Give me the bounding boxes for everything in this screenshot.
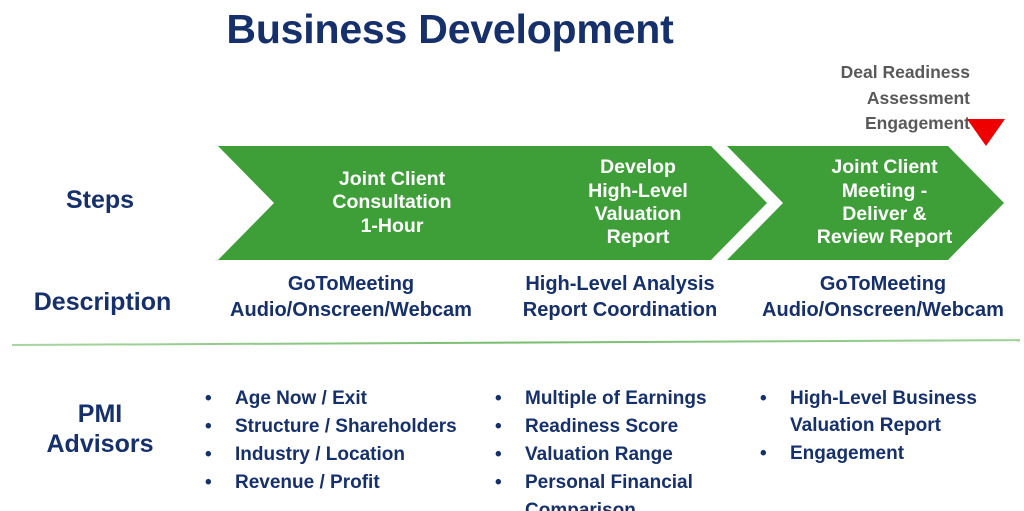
process-step-1[interactable]: Joint Client Consultation 1-Hour — [218, 146, 528, 260]
slide-canvas: Business Development Deal Readiness Asse… — [0, 0, 1024, 511]
list-item-label: Readiness Score — [525, 413, 745, 440]
red-down-triangle-icon — [967, 119, 1005, 146]
description-cell-2: High-Level Analysis Report Coordination — [495, 272, 745, 323]
list-item-label: Age Now / Exit — [235, 385, 495, 412]
process-step-3[interactable]: Joint Client Meeting - Deliver & Review … — [727, 146, 1004, 260]
list-item-label: Personal Financial Comparison — [525, 469, 745, 511]
pmi-bullet-column-2: • Multiple of Earnings • Readiness Score… — [495, 385, 745, 511]
list-item-label: Industry / Location — [235, 441, 495, 468]
bullet-dot-icon: • — [760, 440, 790, 467]
description-cell-3: GoToMeeting Audio/Onscreen/Webcam — [742, 272, 1024, 323]
list-item-label: Valuation Range — [525, 441, 745, 468]
list-item: • Readiness Score — [495, 413, 745, 440]
callout-line-3: Engagement — [780, 111, 970, 137]
deal-readiness-callout: Deal Readiness Assessment Engagement — [780, 60, 970, 137]
bullet-dot-icon: • — [760, 385, 790, 412]
pmi-bullet-column-3: • High-Level Business Valuation Report •… — [760, 385, 1020, 468]
list-item-label: Revenue / Profit — [235, 469, 495, 496]
list-item: • Industry / Location — [205, 441, 495, 468]
section-divider — [12, 339, 1020, 346]
bullet-dot-icon: • — [205, 413, 235, 440]
process-chevron-band: Joint Client Consultation 1-Hour Develop… — [0, 146, 1024, 260]
bullet-dot-icon: • — [205, 385, 235, 412]
description-cell-1: GoToMeeting Audio/Onscreen/Webcam — [208, 272, 494, 323]
list-item: • Structure / Shareholders — [205, 413, 495, 440]
page-title: Business Development — [0, 6, 900, 53]
row-label-description: Description — [0, 288, 205, 318]
bullet-dot-icon: • — [205, 441, 235, 468]
bullet-dot-icon: • — [495, 413, 525, 440]
process-step-1-label: Joint Client Consultation 1-Hour — [286, 168, 459, 238]
process-step-3-label: Joint Client Meeting - Deliver & Review … — [771, 156, 960, 250]
process-step-2-label: Develop High-Level Valuation Report — [542, 156, 696, 250]
list-item: • Valuation Range — [495, 441, 745, 468]
list-item: • High-Level Business Valuation Report — [760, 385, 1020, 439]
list-item-label: Multiple of Earnings — [525, 385, 745, 412]
list-item-label: Engagement — [790, 440, 1020, 467]
bullet-dot-icon: • — [495, 441, 525, 468]
pmi-bullet-column-1: • Age Now / Exit • Structure / Sharehold… — [205, 385, 495, 498]
callout-line-1: Deal Readiness — [780, 60, 970, 86]
list-item-label: High-Level Business Valuation Report — [790, 385, 1020, 439]
row-label-pmi-advisors: PMI Advisors — [0, 400, 200, 459]
bullet-dot-icon: • — [495, 469, 525, 496]
list-item-label: Structure / Shareholders — [235, 413, 495, 440]
list-item: • Age Now / Exit — [205, 385, 495, 412]
list-item: • Personal Financial Comparison — [495, 469, 745, 511]
callout-line-2: Assessment — [780, 86, 970, 112]
list-item: • Multiple of Earnings — [495, 385, 745, 412]
list-item: • Engagement — [760, 440, 1020, 467]
bullet-dot-icon: • — [205, 469, 235, 496]
bullet-dot-icon: • — [495, 385, 525, 412]
list-item: • Revenue / Profit — [205, 469, 495, 496]
